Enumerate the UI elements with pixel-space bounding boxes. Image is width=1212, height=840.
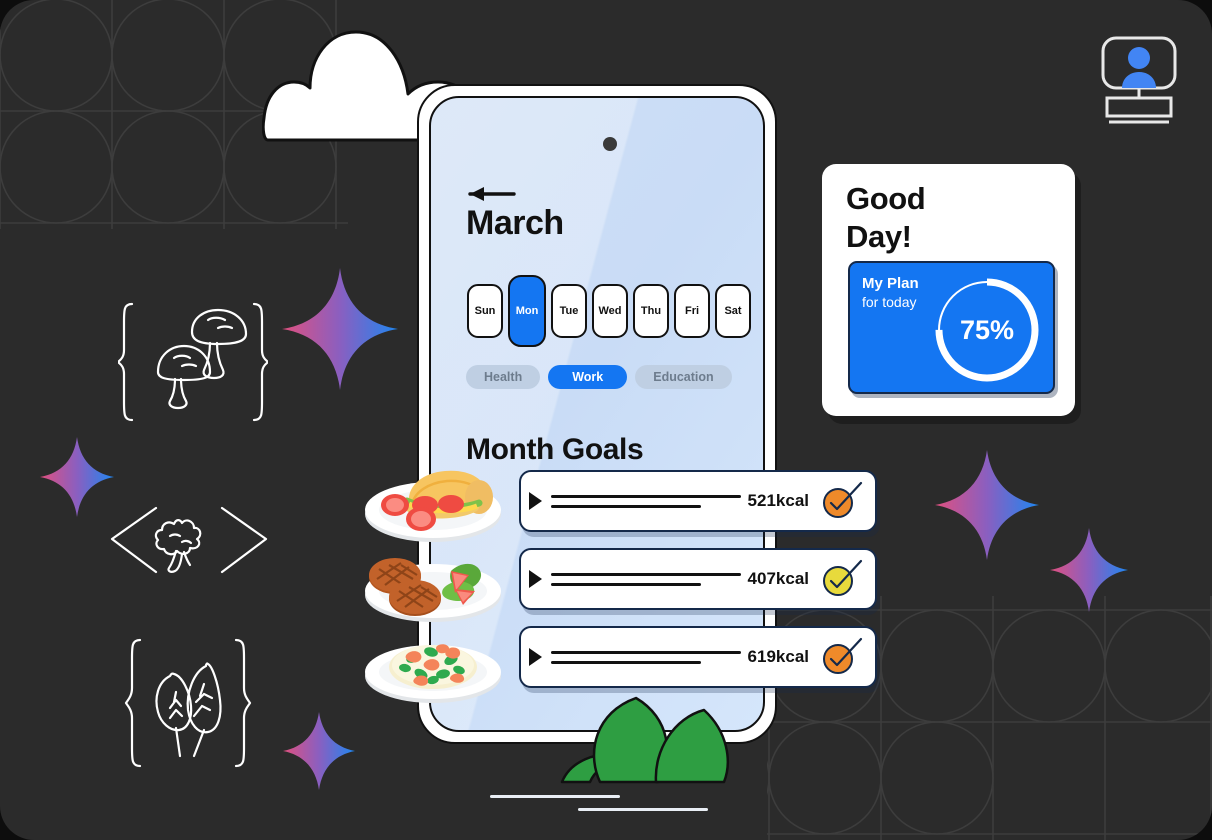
check-circle-icon[interactable] — [821, 481, 863, 521]
goal-calories: 619kcal — [748, 647, 809, 667]
greeting-line-1: Good — [846, 180, 925, 218]
goal-row-3[interactable]: 619kcal — [519, 626, 877, 688]
my-plan-widget[interactable]: My Plan for today 75% — [848, 261, 1055, 394]
base-line — [578, 808, 708, 811]
tab-work[interactable]: Work — [548, 365, 627, 389]
sparkle-star-icon — [935, 450, 1039, 560]
play-caret-icon — [529, 492, 542, 510]
day-chip-tue[interactable]: Tue — [551, 284, 587, 338]
greeting-line-2: Day! — [846, 218, 925, 256]
day-chip-wed[interactable]: Wed — [592, 284, 628, 338]
goal-placeholder-lines — [551, 651, 748, 664]
base-line — [490, 795, 620, 798]
goal-row-1[interactable]: 521kcal — [519, 470, 877, 532]
shrimp-salad-plate — [363, 622, 503, 706]
steak-salad-plate — [363, 541, 503, 625]
plant-leaves-icon — [552, 694, 746, 786]
tab-health[interactable]: Health — [466, 365, 540, 389]
category-tabs[interactable]: Health Work Education — [466, 365, 732, 389]
plan-title: My Plan — [862, 275, 919, 294]
day-selector[interactable]: Sun Mon Tue Wed Thu Fri Sat — [467, 275, 751, 347]
sparkle-star-icon — [1050, 528, 1128, 612]
camera-dot — [603, 137, 617, 151]
good-day-card: Good Day! My Plan for today 75% — [822, 164, 1075, 416]
play-caret-icon — [529, 570, 542, 588]
page-title: March — [466, 204, 564, 243]
back-arrow-icon[interactable] — [468, 185, 516, 203]
check-circle-icon[interactable] — [821, 637, 863, 677]
plan-subtitle: for today — [862, 294, 919, 312]
day-chip-sat[interactable]: Sat — [715, 284, 751, 338]
goal-calories: 407kcal — [748, 569, 809, 589]
broccoli-icon — [110, 506, 268, 574]
goal-row-2[interactable]: 407kcal — [519, 548, 877, 610]
day-chip-thu[interactable]: Thu — [633, 284, 669, 338]
play-caret-icon — [529, 648, 542, 666]
poster-canvas: March Sun Mon Tue Wed Thu Fri Sat Health… — [0, 0, 1212, 840]
spinach-icon — [124, 638, 252, 774]
tab-education[interactable]: Education — [635, 365, 731, 389]
monitor-user-icon — [1100, 36, 1178, 124]
goal-placeholder-lines — [551, 495, 748, 508]
check-circle-icon[interactable] — [821, 559, 863, 599]
goal-list: 521kcal 407kcal 619kcal — [519, 470, 877, 704]
goal-calories: 521kcal — [748, 491, 809, 511]
progress-percent: 75% — [930, 273, 1044, 387]
day-chip-fri[interactable]: Fri — [674, 284, 710, 338]
day-chip-sun[interactable]: Sun — [467, 284, 503, 338]
greeting-title: Good Day! — [846, 180, 925, 256]
sparkle-star-icon — [40, 437, 114, 517]
sparkle-star-icon — [283, 712, 355, 790]
day-chip-mon[interactable]: Mon — [508, 275, 546, 347]
mushroom-icon — [118, 300, 268, 424]
sparkle-star-icon — [282, 268, 398, 390]
sandwich-tomato-plate — [363, 457, 503, 545]
goal-placeholder-lines — [551, 573, 748, 586]
plan-label-group: My Plan for today — [862, 275, 919, 311]
